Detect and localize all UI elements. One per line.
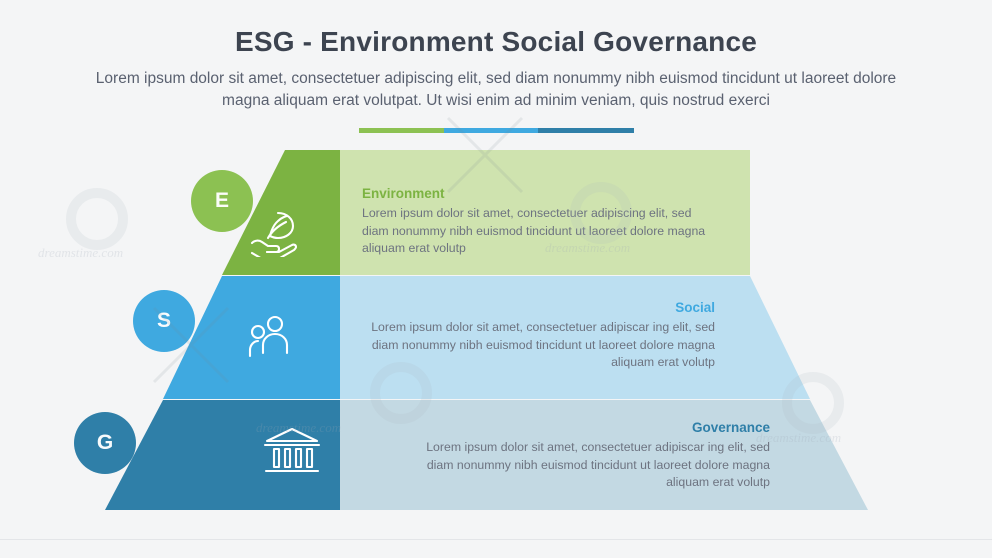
hand-leaf-icon <box>248 207 300 262</box>
people-group-icon <box>247 313 297 366</box>
band-body-governance: Lorem ipsum dolor sit amet, consectetuer… <box>420 439 770 492</box>
infographic-canvas: ESG - Environment Social Governance Lore… <box>0 0 992 558</box>
underline-segment-governance <box>538 128 634 133</box>
page-subtitle: Lorem ipsum dolor sit amet, consectetuer… <box>70 68 922 112</box>
band-text-environment: Environment Lorem ipsum dolor sit amet, … <box>362 186 712 258</box>
band-heading-environment: Environment <box>362 186 712 201</box>
band-text-governance: Governance Lorem ipsum dolor sit amet, c… <box>420 420 770 492</box>
underline-segment-social <box>444 128 538 133</box>
title-underline <box>359 128 634 133</box>
pyramid-diagram: E S G <box>0 150 992 510</box>
band-heading-governance: Governance <box>420 420 770 435</box>
band-heading-social: Social <box>365 300 715 315</box>
band-body-social: Lorem ipsum dolor sit amet, consectetuer… <box>365 319 715 372</box>
page-title: ESG - Environment Social Governance <box>0 26 992 58</box>
band-text-social: Social Lorem ipsum dolor sit amet, conse… <box>365 300 715 372</box>
underline-segment-environment <box>359 128 444 133</box>
bank-building-icon <box>263 425 321 482</box>
band-body-environment: Lorem ipsum dolor sit amet, consectetuer… <box>362 205 712 258</box>
footer-divider <box>0 539 992 540</box>
